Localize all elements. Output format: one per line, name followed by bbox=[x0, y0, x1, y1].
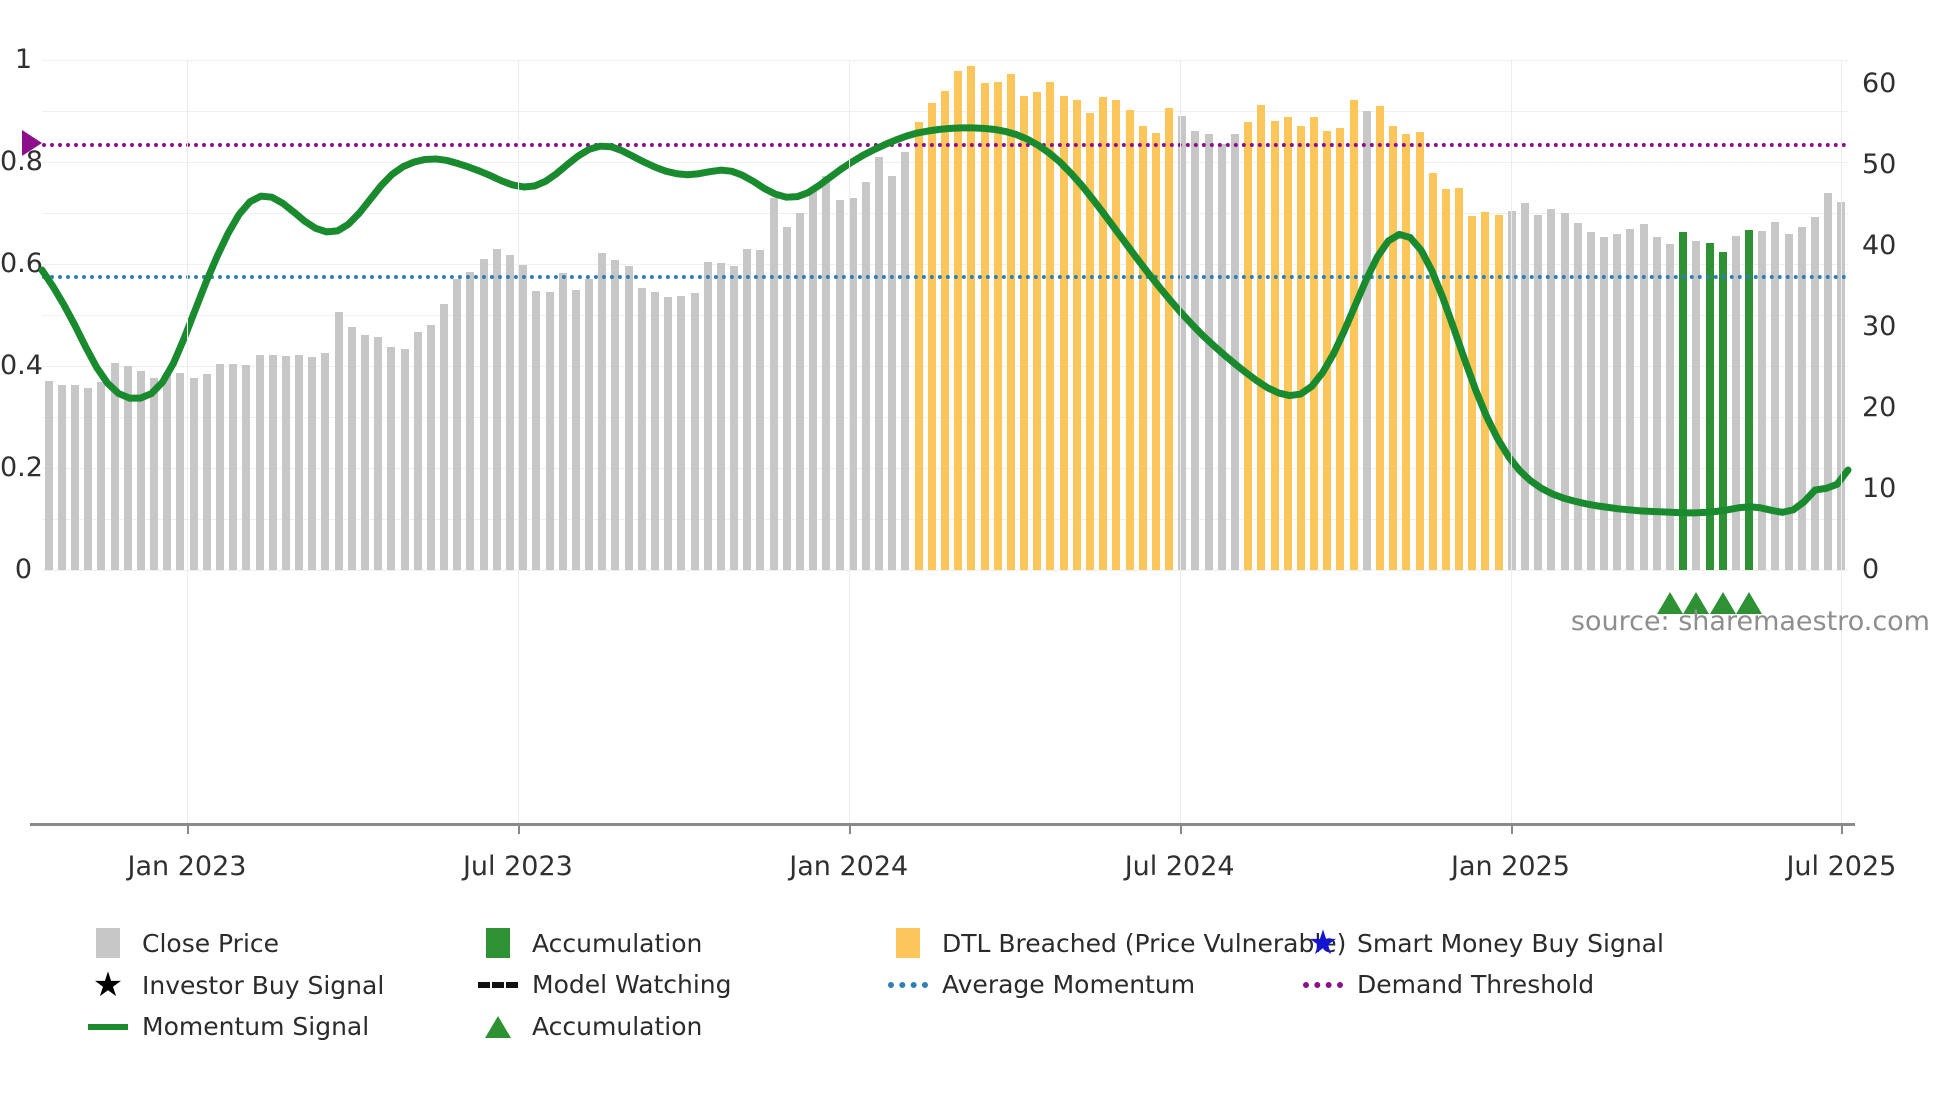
average-momentum-dotted-line-icon bbox=[888, 982, 928, 988]
y-left-tick-0.4: 0.4 bbox=[0, 352, 32, 379]
y-right-tick-40: 40 bbox=[1862, 232, 1896, 259]
y-left-tick-0.2: 0.2 bbox=[0, 454, 32, 481]
x-tick-label: Jan 2025 bbox=[1401, 853, 1621, 880]
x-axis-line bbox=[30, 823, 1855, 826]
x-tick bbox=[1841, 823, 1843, 834]
momentum-signal-line bbox=[42, 60, 1848, 570]
investor-buy-signal-star-icon: ★ bbox=[93, 970, 123, 1000]
y-right-tick-10: 10 bbox=[1862, 475, 1896, 502]
x-tick bbox=[1180, 823, 1182, 834]
model-watching-dashed-line-icon bbox=[478, 982, 518, 988]
y-right-tick-0: 0 bbox=[1862, 556, 1879, 583]
y-right-tick-30: 30 bbox=[1862, 313, 1896, 340]
accumulation-marker-triangle-icon bbox=[485, 1016, 511, 1038]
x-gridline bbox=[518, 60, 519, 823]
x-tick bbox=[187, 823, 189, 834]
x-gridline bbox=[1511, 60, 1512, 823]
dtl-breached-swatch bbox=[888, 928, 928, 958]
momentum-path bbox=[42, 128, 1848, 513]
demand-threshold-swatch bbox=[1303, 982, 1343, 988]
x-gridline bbox=[1841, 60, 1842, 823]
legend-label: Demand Threshold bbox=[1357, 970, 1594, 999]
model-watching-swatch bbox=[478, 982, 518, 988]
y-left-tick-0.6: 0.6 bbox=[0, 250, 32, 277]
legend-row: Close PriceAccumulationDTL Breached (Pri… bbox=[88, 928, 1928, 959]
legend-item-dtl-breached[interactable]: DTL Breached (Price Vulnerable) bbox=[888, 928, 1346, 958]
close-price-swatch-icon bbox=[96, 928, 120, 958]
legend-label: DTL Breached (Price Vulnerable) bbox=[942, 929, 1346, 958]
legend-item-model-watching[interactable]: Model Watching bbox=[478, 970, 732, 999]
y-right-tick-60: 60 bbox=[1862, 70, 1896, 97]
x-tick-label: Jan 2023 bbox=[77, 853, 297, 880]
y-right-tick-20: 20 bbox=[1862, 394, 1896, 421]
demand-threshold-dotted-line-icon bbox=[1303, 982, 1343, 988]
dtl-breached-swatch-icon bbox=[896, 928, 920, 958]
x-tick bbox=[1511, 823, 1513, 834]
plot-area bbox=[42, 60, 1848, 570]
legend-label: Accumulation bbox=[532, 1012, 702, 1041]
legend-label: Average Momentum bbox=[942, 970, 1195, 999]
momentum-signal-swatch bbox=[88, 1024, 128, 1030]
x-tick-label: Jul 2025 bbox=[1731, 853, 1951, 880]
chart-root: 10.80.60.40.20 6050403020100 Jan 2023Jul… bbox=[0, 0, 1960, 1102]
x-tick-label: Jul 2023 bbox=[408, 853, 628, 880]
legend-item-close-price[interactable]: Close Price bbox=[88, 928, 279, 958]
chart-legend: Close PriceAccumulationDTL Breached (Pri… bbox=[88, 928, 1928, 1054]
demand-threshold-start-marker bbox=[22, 130, 42, 156]
average-momentum-swatch bbox=[888, 982, 928, 988]
legend-item-investor-buy-signal[interactable]: ★Investor Buy Signal bbox=[88, 970, 384, 1000]
legend-item-smart-money-buy-signal[interactable]: ★Smart Money Buy Signal bbox=[1303, 928, 1664, 958]
x-tick bbox=[518, 823, 520, 834]
x-tick-label: Jan 2024 bbox=[739, 853, 959, 880]
source-attribution: source: sharemaestro.com bbox=[1571, 606, 1930, 637]
momentum-signal-line-icon bbox=[88, 1024, 128, 1030]
x-gridline bbox=[849, 60, 850, 823]
smart-money-buy-signal-swatch: ★ bbox=[1303, 928, 1343, 958]
investor-buy-signal-swatch: ★ bbox=[88, 970, 128, 1000]
close-price-swatch bbox=[88, 928, 128, 958]
legend-item-demand-threshold[interactable]: Demand Threshold bbox=[1303, 970, 1594, 999]
legend-item-momentum-signal[interactable]: Momentum Signal bbox=[88, 1012, 369, 1041]
legend-item-accumulation-bar[interactable]: Accumulation bbox=[478, 928, 702, 958]
legend-label: Smart Money Buy Signal bbox=[1357, 929, 1664, 958]
accumulation-bar-swatch-icon bbox=[486, 928, 510, 958]
x-gridline bbox=[1180, 60, 1181, 823]
legend-item-accumulation-marker[interactable]: Accumulation bbox=[478, 1012, 702, 1041]
y-right-tick-50: 50 bbox=[1862, 151, 1896, 178]
smart-money-buy-signal-star-icon: ★ bbox=[1308, 928, 1338, 958]
legend-row: Momentum SignalAccumulation bbox=[88, 1012, 1928, 1043]
legend-label: Accumulation bbox=[532, 929, 702, 958]
y-left-tick-0: 0 bbox=[0, 556, 32, 583]
y-left-tick-1: 1 bbox=[0, 46, 32, 73]
legend-label: Close Price bbox=[142, 929, 279, 958]
legend-row: ★Investor Buy SignalModel WatchingAverag… bbox=[88, 970, 1928, 1001]
accumulation-marker-swatch bbox=[478, 1016, 518, 1038]
gridline bbox=[42, 570, 1848, 571]
accumulation-bar-swatch bbox=[478, 928, 518, 958]
x-gridline bbox=[187, 60, 188, 823]
x-tick-label: Jul 2024 bbox=[1070, 853, 1290, 880]
legend-label: Model Watching bbox=[532, 970, 732, 999]
x-tick bbox=[849, 823, 851, 834]
legend-label: Investor Buy Signal bbox=[142, 971, 384, 1000]
legend-label: Momentum Signal bbox=[142, 1012, 369, 1041]
legend-item-average-momentum[interactable]: Average Momentum bbox=[888, 970, 1195, 999]
